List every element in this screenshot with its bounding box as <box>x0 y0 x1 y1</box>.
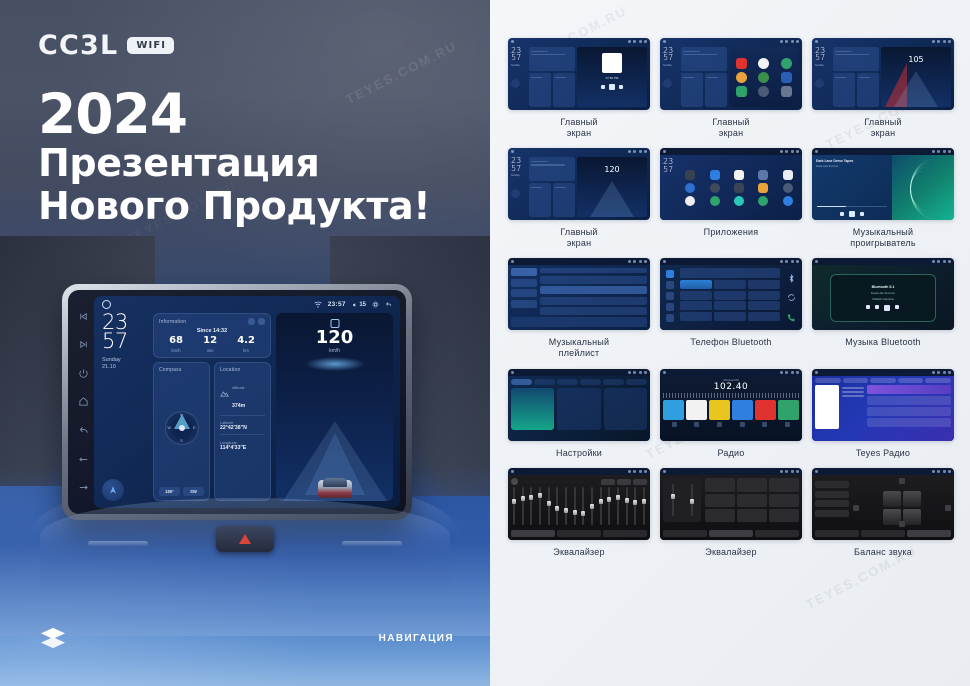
divider <box>220 415 265 416</box>
eq-slider[interactable] <box>530 487 532 525</box>
screen-thumbnail[interactable]: 2357Sunday 105 <box>812 38 954 110</box>
contacts-icon[interactable] <box>666 281 674 289</box>
trip-stats: 68 km/h 12 min 4.2 <box>159 336 265 353</box>
dialer-actions[interactable] <box>783 268 799 327</box>
tab-favorites[interactable] <box>843 378 869 383</box>
app-icon-chrome[interactable] <box>685 183 695 193</box>
hud-speed-value: 120 <box>604 165 619 174</box>
screen-thumbnail[interactable] <box>812 468 954 540</box>
cell-label: Настройки <box>556 448 602 459</box>
key-1[interactable] <box>680 280 712 289</box>
key-0[interactable] <box>714 312 746 321</box>
clock-minutes: 57 <box>102 332 148 351</box>
tab-system[interactable] <box>580 379 601 385</box>
chevron-left-icon[interactable] <box>853 505 859 511</box>
expand-icon[interactable] <box>258 318 265 325</box>
trip-stat: 12 min <box>203 336 217 353</box>
key-5[interactable] <box>714 291 746 300</box>
app-icon-bluetooth-music[interactable] <box>734 170 744 180</box>
app-icon-contacts[interactable] <box>710 183 720 193</box>
progress-bar[interactable] <box>817 206 887 207</box>
app-icon-dvr-recorder[interactable] <box>734 183 744 193</box>
location-card[interactable]: Location Altitude 374m <box>214 362 271 502</box>
settings-tabs[interactable] <box>511 379 647 385</box>
search-icon[interactable] <box>694 422 699 427</box>
eq-slider[interactable] <box>539 487 541 525</box>
status-bar: 23:57 15 <box>94 296 400 313</box>
eq-slider[interactable] <box>643 487 645 525</box>
prev-track-icon[interactable] <box>840 212 844 216</box>
settings-screen[interactable] <box>508 376 650 441</box>
chevron-up-icon[interactable] <box>899 478 905 484</box>
location-latitude-row: Latitude 22°42'38"N <box>220 421 265 431</box>
equalizer-presets[interactable] <box>601 479 647 485</box>
grid-cell[interactable]: Bluetooth 5.1 Feels Like Summer Childish… <box>812 258 954 358</box>
compass-hub <box>179 425 185 431</box>
key-7[interactable] <box>680 301 712 310</box>
player-controls[interactable] <box>840 211 864 217</box>
preset-station-6[interactable] <box>778 400 799 420</box>
equalizer-tabs[interactable] <box>663 530 799 537</box>
preset-front[interactable] <box>815 481 849 488</box>
cell-label: Радио <box>718 448 745 459</box>
grid-cell[interactable]: Эквалайзер <box>660 468 802 558</box>
cell-label: Музыкальный плейлист <box>549 337 609 358</box>
location-longitude-value: 114°4'33"E <box>220 445 265 451</box>
grid-cell[interactable]: Телефон Bluetooth <box>660 258 802 358</box>
trip-since-label: Since 14:32 <box>159 328 265 334</box>
band-button[interactable] <box>672 422 677 427</box>
tab-genres[interactable] <box>870 378 896 383</box>
equalizer-simple-screen[interactable] <box>660 475 802 540</box>
preset-dance[interactable] <box>769 509 799 522</box>
key-9[interactable] <box>748 301 780 310</box>
list-item[interactable] <box>540 276 647 284</box>
navigation-fab-button[interactable] <box>102 479 124 501</box>
cell-label: Музыка Bluetooth <box>845 337 921 348</box>
screen-thumbnail[interactable] <box>508 468 650 540</box>
sound-balance-screen[interactable] <box>812 475 954 540</box>
app-icon-gallery[interactable] <box>783 183 793 193</box>
volume-up-icon[interactable] <box>78 482 89 493</box>
cell-label: Музыкальный проигрыватель <box>850 227 915 248</box>
eq-slider[interactable] <box>574 487 576 525</box>
app-drawer-grid[interactable] <box>676 155 802 220</box>
list-item[interactable] <box>540 286 647 294</box>
settings-icon[interactable] <box>785 422 790 427</box>
next-track-icon[interactable] <box>895 305 899 309</box>
preset-right[interactable] <box>815 510 849 517</box>
hero-panel: TEYES.COM.RU TEYES.COM.RU TEYES.COM.RU T… <box>0 0 490 686</box>
app-icon-avn[interactable] <box>685 170 695 180</box>
air-vent-right <box>342 541 402 546</box>
equalizer-bands[interactable] <box>511 487 647 525</box>
screen-thumbnail[interactable]: Dark Lane Demo Tapes Feels Like Summer <box>812 148 954 220</box>
tab-about[interactable] <box>626 379 647 385</box>
station-meta <box>842 385 864 429</box>
playlist-tabs[interactable] <box>540 268 647 273</box>
preset-pop[interactable] <box>633 479 647 485</box>
grid-cell[interactable]: Эквалайзер <box>508 468 650 558</box>
app-icon-radio[interactable] <box>783 196 793 206</box>
bass-treble-sliders[interactable] <box>663 478 701 522</box>
radio-presets[interactable] <box>663 400 799 420</box>
eq-slider[interactable] <box>556 487 558 525</box>
app-drawer[interactable]: 2357 <box>660 155 802 220</box>
treble-slider[interactable] <box>691 484 693 516</box>
teyes-radio-body <box>815 385 951 429</box>
balance-pad[interactable] <box>853 478 951 537</box>
cell-label: Баланс звука <box>854 547 912 558</box>
grid-cell[interactable]: Баланс звука <box>812 468 954 558</box>
screen-thumbnail[interactable]: 2357Sunday 07:50 PM <box>508 38 650 110</box>
cell-label: Главный экран <box>560 227 597 248</box>
navigation-footer-label: НАВИГАЦИЯ <box>379 633 454 644</box>
stop-icon[interactable] <box>884 305 890 311</box>
status-volume[interactable]: 15 <box>352 302 366 308</box>
call-history-icon[interactable] <box>666 303 674 311</box>
key-hash[interactable] <box>748 312 780 321</box>
tab-eq[interactable] <box>815 530 859 537</box>
screen-thumbnail[interactable] <box>508 258 650 330</box>
hud-car-model <box>318 472 352 498</box>
screen-thumbnail[interactable] <box>660 468 802 540</box>
call-icon[interactable] <box>787 313 796 322</box>
screen-thumbnail[interactable] <box>812 369 954 441</box>
teyes-radio-screen[interactable] <box>812 376 954 441</box>
list-item[interactable] <box>540 307 647 315</box>
screen-thumbnail[interactable] <box>508 369 650 441</box>
preset-left[interactable] <box>815 500 849 507</box>
clock-column: 23 57 Sunday 21.10 <box>102 313 148 501</box>
equalizer-screen[interactable] <box>508 475 650 540</box>
app-icon-google[interactable] <box>685 196 695 206</box>
next-track-icon[interactable] <box>78 339 89 350</box>
balance-presets[interactable] <box>815 478 849 537</box>
bluetooth-music-screen[interactable]: Bluetooth 5.1 Feels Like Summer Childish… <box>812 265 954 330</box>
settings-cards[interactable] <box>511 388 647 430</box>
cell-label: Приложения <box>704 227 759 238</box>
bt-track-artist: Childish Gambino <box>872 297 894 301</box>
air-vent-left <box>88 541 148 546</box>
eq-slider[interactable] <box>634 487 636 525</box>
app-icon-calendar[interactable] <box>781 72 792 83</box>
tab-sound[interactable] <box>534 379 555 385</box>
app-icon-settings[interactable] <box>758 86 769 97</box>
key-star[interactable] <box>680 312 712 321</box>
preset-rock[interactable] <box>769 478 799 491</box>
list-item[interactable] <box>867 396 951 405</box>
playlist-screen[interactable] <box>508 265 650 330</box>
home-icon[interactable] <box>102 300 111 309</box>
bt-device-name: Bluetooth 5.1 <box>872 285 895 289</box>
app-icon-camera[interactable] <box>783 170 793 180</box>
grid-cell[interactable]: Teyes Радио <box>812 369 954 459</box>
car-dashboard-scene: 23:57 15 <box>0 236 490 636</box>
chevron-down-icon[interactable] <box>899 521 905 527</box>
eq-slider[interactable] <box>565 487 567 525</box>
list-item[interactable] <box>867 385 951 394</box>
bluetooth-phone-screen[interactable] <box>660 265 802 330</box>
app-icon-maps[interactable] <box>781 58 792 69</box>
volume-icon <box>352 302 358 308</box>
compass-south-label: S <box>180 439 182 443</box>
seat-rear-right <box>903 509 921 525</box>
hud-panel[interactable]: 120 km/h <box>276 313 393 501</box>
information-card-header: Information <box>159 318 265 325</box>
app-icon-play-store[interactable] <box>736 86 747 97</box>
clock-weekday: Sunday <box>102 357 148 364</box>
trip-stat-unit: km/h <box>169 348 183 353</box>
preset-station-2[interactable] <box>686 400 707 420</box>
pause-icon[interactable] <box>849 211 855 217</box>
grid-cell[interactable]: 2357 <box>660 148 802 248</box>
location-altitude-label: Altitude <box>232 386 245 390</box>
hud-road-lane <box>894 71 938 107</box>
app-icon-browser[interactable] <box>758 58 769 69</box>
eq-button[interactable] <box>762 422 767 427</box>
sidebar-item-folders[interactable] <box>511 300 537 308</box>
screen-thumbnail[interactable]: Moscow FM 102.40 <box>660 369 802 441</box>
radio-frequency: 102.40 <box>663 382 799 392</box>
key-6[interactable] <box>748 291 780 300</box>
eq-slider[interactable] <box>582 487 584 525</box>
product-logo: CC3L WIFI <box>38 30 174 61</box>
screens-grid-panel: TEYES.COM.RU TEYES.COM.RU TEYES.COM.RU T… <box>490 0 970 686</box>
list-item[interactable] <box>867 407 951 416</box>
grid-cell[interactable]: 2357Sunday 105 Главный э <box>812 38 954 138</box>
status-time: 23:57 <box>328 301 346 308</box>
radio-toolbar[interactable] <box>663 422 799 427</box>
equalizer-simple-body <box>663 478 799 522</box>
tab-countries[interactable] <box>898 378 924 383</box>
bluetooth-icon[interactable] <box>787 274 796 283</box>
search-icon[interactable] <box>666 292 674 300</box>
eq-slider[interactable] <box>513 487 515 525</box>
teyes-radio-tabs[interactable] <box>815 378 951 383</box>
screen-thumbnail[interactable]: 2357Sunday <box>660 38 802 110</box>
head-unit-screen[interactable]: 23:57 15 <box>94 296 400 508</box>
bass-slider[interactable] <box>672 484 674 516</box>
prev-track-icon[interactable] <box>78 311 89 322</box>
grid-cell[interactable]: Настройки <box>508 369 650 459</box>
grid-cell[interactable]: Moscow FM 102.40 <box>660 369 802 459</box>
gear-icon[interactable] <box>372 301 379 308</box>
tab-history[interactable] <box>925 378 951 383</box>
hud-preview: 105 <box>881 47 951 107</box>
volume-down-icon[interactable] <box>78 454 89 465</box>
app-icon-spotify[interactable] <box>758 72 769 83</box>
sidebar-item-songs[interactable] <box>511 268 537 276</box>
location-altitude-row: Altitude 374m <box>220 376 265 412</box>
preset-rear[interactable] <box>815 491 849 498</box>
radio-tuner: Moscow FM 102.40 <box>663 378 799 392</box>
preset-station-4[interactable] <box>732 400 753 420</box>
screen-thumbnail[interactable] <box>660 258 802 330</box>
preset-jazz[interactable] <box>737 478 767 491</box>
preset-bass-boost[interactable] <box>737 509 767 522</box>
eq-slider[interactable] <box>608 487 610 525</box>
app-icon-bluetooth[interactable] <box>710 170 720 180</box>
bt-now-playing-panel: Bluetooth 5.1 Feels Like Summer Childish… <box>830 274 935 322</box>
tab-apps[interactable] <box>603 379 624 385</box>
radio-screen[interactable]: Moscow FM 102.40 <box>660 376 802 441</box>
dialer-keypad[interactable] <box>680 268 780 327</box>
thumb-body: 2357Sunday 07:50 PM <box>508 45 650 110</box>
setting-card-wifi[interactable] <box>511 388 554 430</box>
quick-apps-grid[interactable] <box>729 47 799 107</box>
hud-speed-unit: km/h <box>329 348 340 354</box>
preset-pop[interactable] <box>705 478 735 491</box>
app-icon-file-manager[interactable] <box>758 183 768 193</box>
setting-card-carplay[interactable] <box>557 388 600 430</box>
cell-label: Главный экран <box>712 117 749 138</box>
equalizer-tabs[interactable] <box>511 530 647 537</box>
back-arrow-icon[interactable] <box>78 425 89 436</box>
eq-slider[interactable] <box>548 487 550 525</box>
sync-contacts-icon[interactable] <box>787 293 796 302</box>
radio-tuning-scale[interactable] <box>663 393 799 398</box>
head-unit-bezel: 23:57 15 <box>68 290 406 514</box>
settings-icon[interactable] <box>666 314 674 322</box>
grid-cell[interactable]: Dark Lane Demo Tapes Feels Like Summer <box>812 148 954 248</box>
setting-card-more[interactable] <box>604 388 647 430</box>
location-altitude-value: 374m <box>232 403 245 409</box>
refresh-icon[interactable] <box>248 318 255 325</box>
tab-sound[interactable] <box>755 530 799 537</box>
bt-controls[interactable] <box>866 305 899 311</box>
preset-classic[interactable] <box>705 494 735 507</box>
player-info: Dark Lane Demo Tapes Feels Like Summer <box>812 155 892 220</box>
tab-wifi[interactable] <box>511 379 532 385</box>
power-icon[interactable] <box>78 368 89 379</box>
tab-sound[interactable] <box>907 530 951 537</box>
location-latitude-value: 22°42'38"N <box>220 425 265 431</box>
key-8[interactable] <box>714 301 746 310</box>
app-icon-all-apps[interactable] <box>781 86 792 97</box>
preset-flat[interactable] <box>769 494 799 507</box>
key-3[interactable] <box>748 280 780 289</box>
compass-bearing: SW <box>183 487 204 496</box>
keypad-icon[interactable] <box>666 270 674 278</box>
preset-custom[interactable] <box>601 479 615 485</box>
grid-cell[interactable]: Музыкальный плейлист <box>508 258 650 358</box>
prev-track-icon[interactable] <box>866 305 870 309</box>
tab-sound[interactable] <box>603 530 647 537</box>
information-card-title: Information <box>159 319 186 325</box>
grid-cell[interactable]: 2357Sunday 07:50 PM Главный экран <box>508 38 650 138</box>
tab-eq[interactable] <box>663 530 707 537</box>
eq-slider[interactable] <box>522 487 524 525</box>
information-card[interactable]: Information Since 14:32 <box>153 313 271 358</box>
trip-stat: 4.2 km <box>237 336 255 353</box>
screen-thumbnail[interactable]: 2357 <box>660 148 802 220</box>
app-icon-play-store[interactable] <box>758 196 768 206</box>
app-icon-music-player[interactable] <box>734 196 744 206</box>
cell-label: Эквалайзер <box>553 547 604 558</box>
trip-stat-value: 12 <box>203 336 217 346</box>
app-icon-calculator[interactable] <box>758 170 768 180</box>
tab-all[interactable] <box>815 378 841 383</box>
track-artist: Feels Like Summer <box>816 165 888 168</box>
station-artwork <box>815 385 839 429</box>
mountain-icon <box>220 390 229 397</box>
sidebar-item-artists[interactable] <box>511 279 537 287</box>
hazard-light-button[interactable] <box>216 526 274 552</box>
app-icon-music[interactable] <box>736 72 747 83</box>
preset-station-5[interactable] <box>755 400 776 420</box>
equalizer-tabs[interactable] <box>815 530 951 537</box>
head-unit-hardware-buttons[interactable] <box>74 302 92 502</box>
hud-horizon-glow <box>305 357 365 371</box>
trip-stat-value: 68 <box>169 336 183 346</box>
trip-stat-unit: km <box>237 348 255 353</box>
preset-station-1[interactable] <box>663 400 684 420</box>
eq-slider[interactable] <box>617 487 619 525</box>
information-card-actions[interactable] <box>248 318 265 325</box>
trip-stat: 68 km/h <box>169 336 183 353</box>
list-item[interactable] <box>867 418 951 427</box>
seat-front-right <box>903 491 921 507</box>
compass-dial: N E S W <box>165 411 199 445</box>
eq-slider[interactable] <box>626 487 628 525</box>
music-player-screen[interactable]: Dark Lane Demo Tapes Feels Like Summer <box>812 155 954 220</box>
layers-icon <box>38 626 68 650</box>
app-icon-maps[interactable] <box>710 196 720 206</box>
sidebar-item-albums[interactable] <box>511 289 537 297</box>
preset-custom[interactable] <box>737 494 767 507</box>
mini-player-bar[interactable] <box>511 317 647 327</box>
back-arrow-icon[interactable] <box>385 301 392 308</box>
brand-icon <box>511 478 518 485</box>
tab-display[interactable] <box>557 379 578 385</box>
seat-front-left <box>883 491 901 507</box>
grid-cell[interactable]: 2357Sunday <box>660 38 802 138</box>
eq-slider[interactable] <box>600 487 602 525</box>
rds-button[interactable] <box>740 422 745 427</box>
tab-balance[interactable] <box>709 530 753 537</box>
hazard-triangle-icon <box>239 534 251 544</box>
chevron-right-icon[interactable] <box>945 505 951 511</box>
home-icon[interactable] <box>78 396 89 407</box>
grid-cell[interactable]: 2357Sunday 120 Главный экран <box>508 148 650 248</box>
list-icon[interactable] <box>717 422 722 427</box>
preset-vocal[interactable] <box>705 509 735 522</box>
tab-eq[interactable] <box>511 530 555 537</box>
preset-rock[interactable] <box>617 479 631 485</box>
screen-thumbnail[interactable]: 2357Sunday 120 <box>508 148 650 220</box>
compass-card[interactable]: Compass N E S W <box>153 362 210 502</box>
dialer-sidebar[interactable] <box>663 268 677 327</box>
eq-slider[interactable] <box>591 487 593 525</box>
preset-buttons[interactable] <box>705 478 799 522</box>
status-volume-level: 15 <box>359 302 366 308</box>
key-2[interactable] <box>714 280 746 289</box>
screen-thumbnail[interactable]: Bluetooth 5.1 Feels Like Summer Childish… <box>812 258 954 330</box>
tab-balance[interactable] <box>557 530 601 537</box>
list-item[interactable] <box>540 297 647 305</box>
dialed-number-display <box>680 268 780 278</box>
status-bar-right: 23:57 15 <box>314 301 392 308</box>
preset-station-3[interactable] <box>709 400 730 420</box>
trip-stat-unit: min <box>203 348 217 353</box>
app-icon-youtube[interactable] <box>736 58 747 69</box>
next-track-icon[interactable] <box>860 212 864 216</box>
key-4[interactable] <box>680 291 712 300</box>
tab-balance[interactable] <box>861 530 905 537</box>
station-list[interactable] <box>867 385 951 429</box>
play-pause-icon[interactable] <box>875 305 879 309</box>
